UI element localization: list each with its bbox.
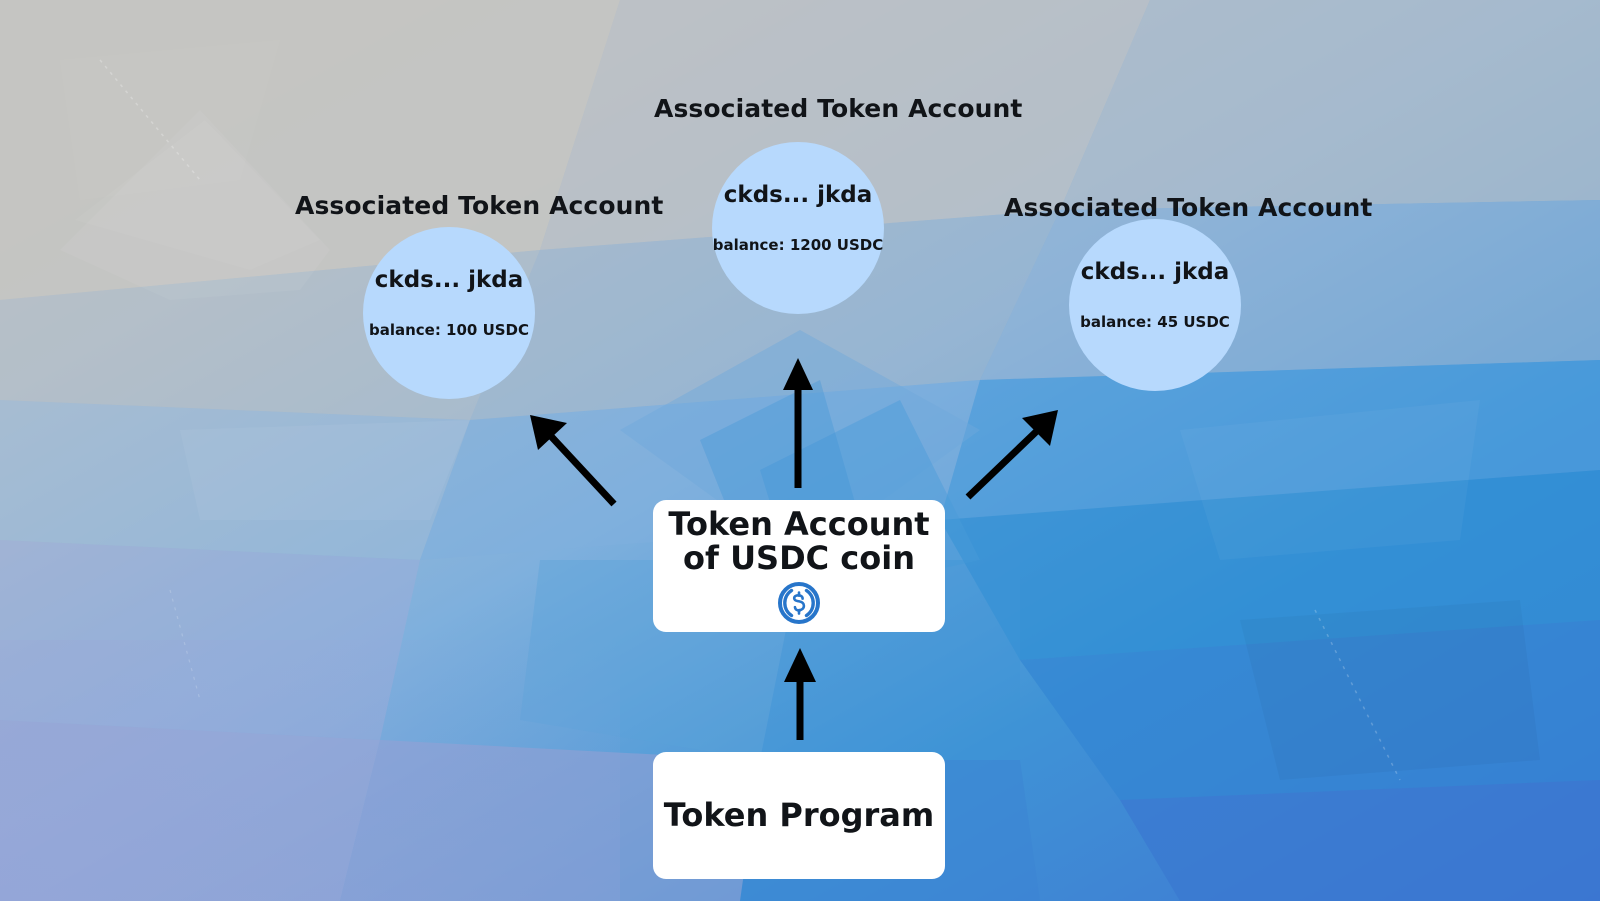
token-program-box-title: Token Program (664, 799, 934, 833)
ata-balance-center: balance: 1200 USDC (713, 236, 884, 254)
ata-address-center: ckds... jkda (724, 182, 872, 208)
title-left-ata: Associated Token Account (295, 191, 663, 220)
ata-address-left: ckds... jkda (375, 267, 523, 293)
title-right-ata: Associated Token Account (1004, 193, 1372, 222)
ata-balance-right: balance: 45 USDC (1080, 313, 1230, 331)
associated-token-account-center[interactable]: ckds... jkda balance: 1200 USDC (712, 142, 884, 314)
token-program-box[interactable]: Token Program (653, 752, 945, 879)
associated-token-account-right[interactable]: ckds... jkda balance: 45 USDC (1069, 219, 1241, 391)
associated-token-account-left[interactable]: ckds... jkda balance: 100 USDC (363, 227, 535, 399)
ata-balance-left: balance: 100 USDC (369, 321, 529, 339)
ata-address-right: ckds... jkda (1081, 259, 1229, 285)
token-account-box-title: Token Account of USDC coin (668, 508, 929, 576)
title-center-ata: Associated Token Account (654, 94, 1022, 123)
usdc-coin-icon (778, 582, 820, 624)
token-account-box[interactable]: Token Account of USDC coin (653, 500, 945, 632)
diagram-canvas: Associated Token Account Associated Toke… (0, 0, 1600, 901)
